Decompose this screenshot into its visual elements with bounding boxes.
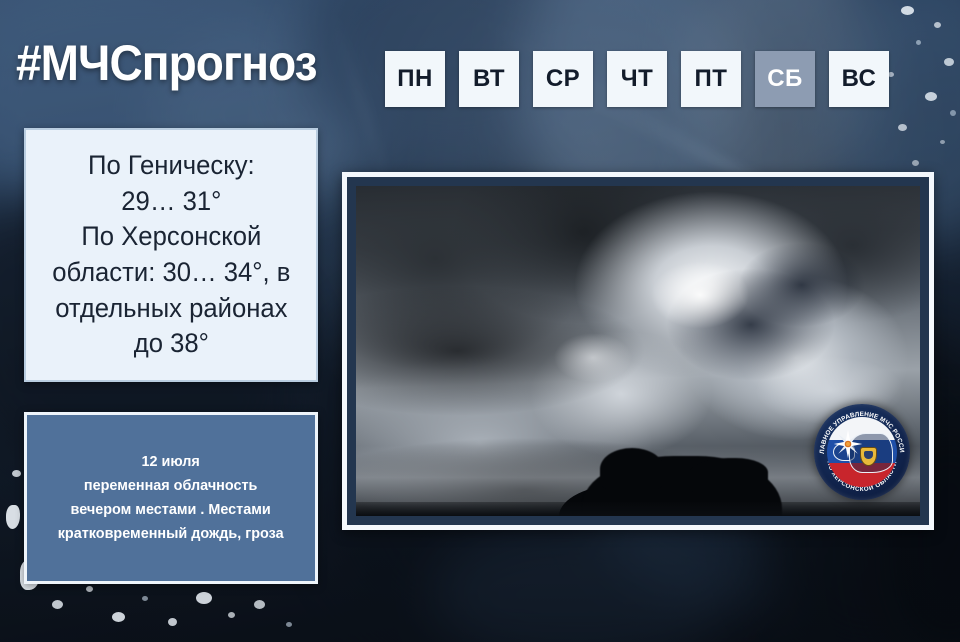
photo-card: ГЛАВНОЕ УПРАВЛЕНИЕ МЧС РОССИИ ПО ХЕРСОНС… [342, 172, 934, 530]
day-button-sat[interactable]: СБ [755, 51, 815, 107]
temperature-text: По Геническу: 29… 31° По Херсонской обла… [44, 148, 297, 362]
day-button-fri[interactable]: ПТ [681, 51, 741, 107]
page-title: #МЧСпрогноз [16, 38, 317, 88]
description-panel: 12 июля переменная облачность вечером ме… [24, 412, 318, 584]
desc-line-3: вечером местами . Местами [58, 498, 284, 522]
temp-line-2: 29… 31° [52, 184, 290, 220]
day-button-mon[interactable]: ПН [385, 51, 445, 107]
temp-line-6: до 38° [52, 326, 290, 362]
temp-line-5: отдельных районах [52, 291, 290, 327]
temp-line-3: По Херсонской [52, 219, 290, 255]
day-button-tue[interactable]: ВТ [459, 51, 519, 107]
temp-line-4: области: 30… 34°, в [52, 255, 290, 291]
emblem-core [827, 417, 897, 487]
day-button-sun[interactable]: ВС [829, 51, 889, 107]
mchs-emblem: ГЛАВНОЕ УПРАВЛЕНИЕ МЧС РОССИИ ПО ХЕРСОНС… [814, 404, 910, 500]
description-text: 12 июля переменная облачность вечером ме… [52, 450, 289, 546]
photo-frame: ГЛАВНОЕ УПРАВЛЕНИЕ МЧС РОССИИ ПО ХЕРСОНС… [347, 177, 929, 525]
day-button-thu[interactable]: ЧТ [607, 51, 667, 107]
desc-line-2: переменная облачность [58, 474, 284, 498]
day-button-wed[interactable]: СР [533, 51, 593, 107]
temp-line-1: По Геническу: [52, 148, 290, 184]
storm-clouds-photo: ГЛАВНОЕ УПРАВЛЕНИЕ МЧС РОССИИ ПО ХЕРСОНС… [356, 186, 920, 516]
desc-line-1: 12 июля [58, 450, 284, 474]
day-selector[interactable]: ПН ВТ СР ЧТ ПТ СБ ВС [385, 51, 889, 107]
mchs-star-icon [833, 429, 863, 459]
desc-line-4: кратковременный дождь, гроза [58, 522, 284, 546]
temperature-panel: По Геническу: 29… 31° По Херсонской обла… [24, 128, 318, 382]
forecast-poster: #МЧСпрогноз ПН ВТ СР ЧТ ПТ СБ ВС По Гени… [0, 0, 960, 642]
